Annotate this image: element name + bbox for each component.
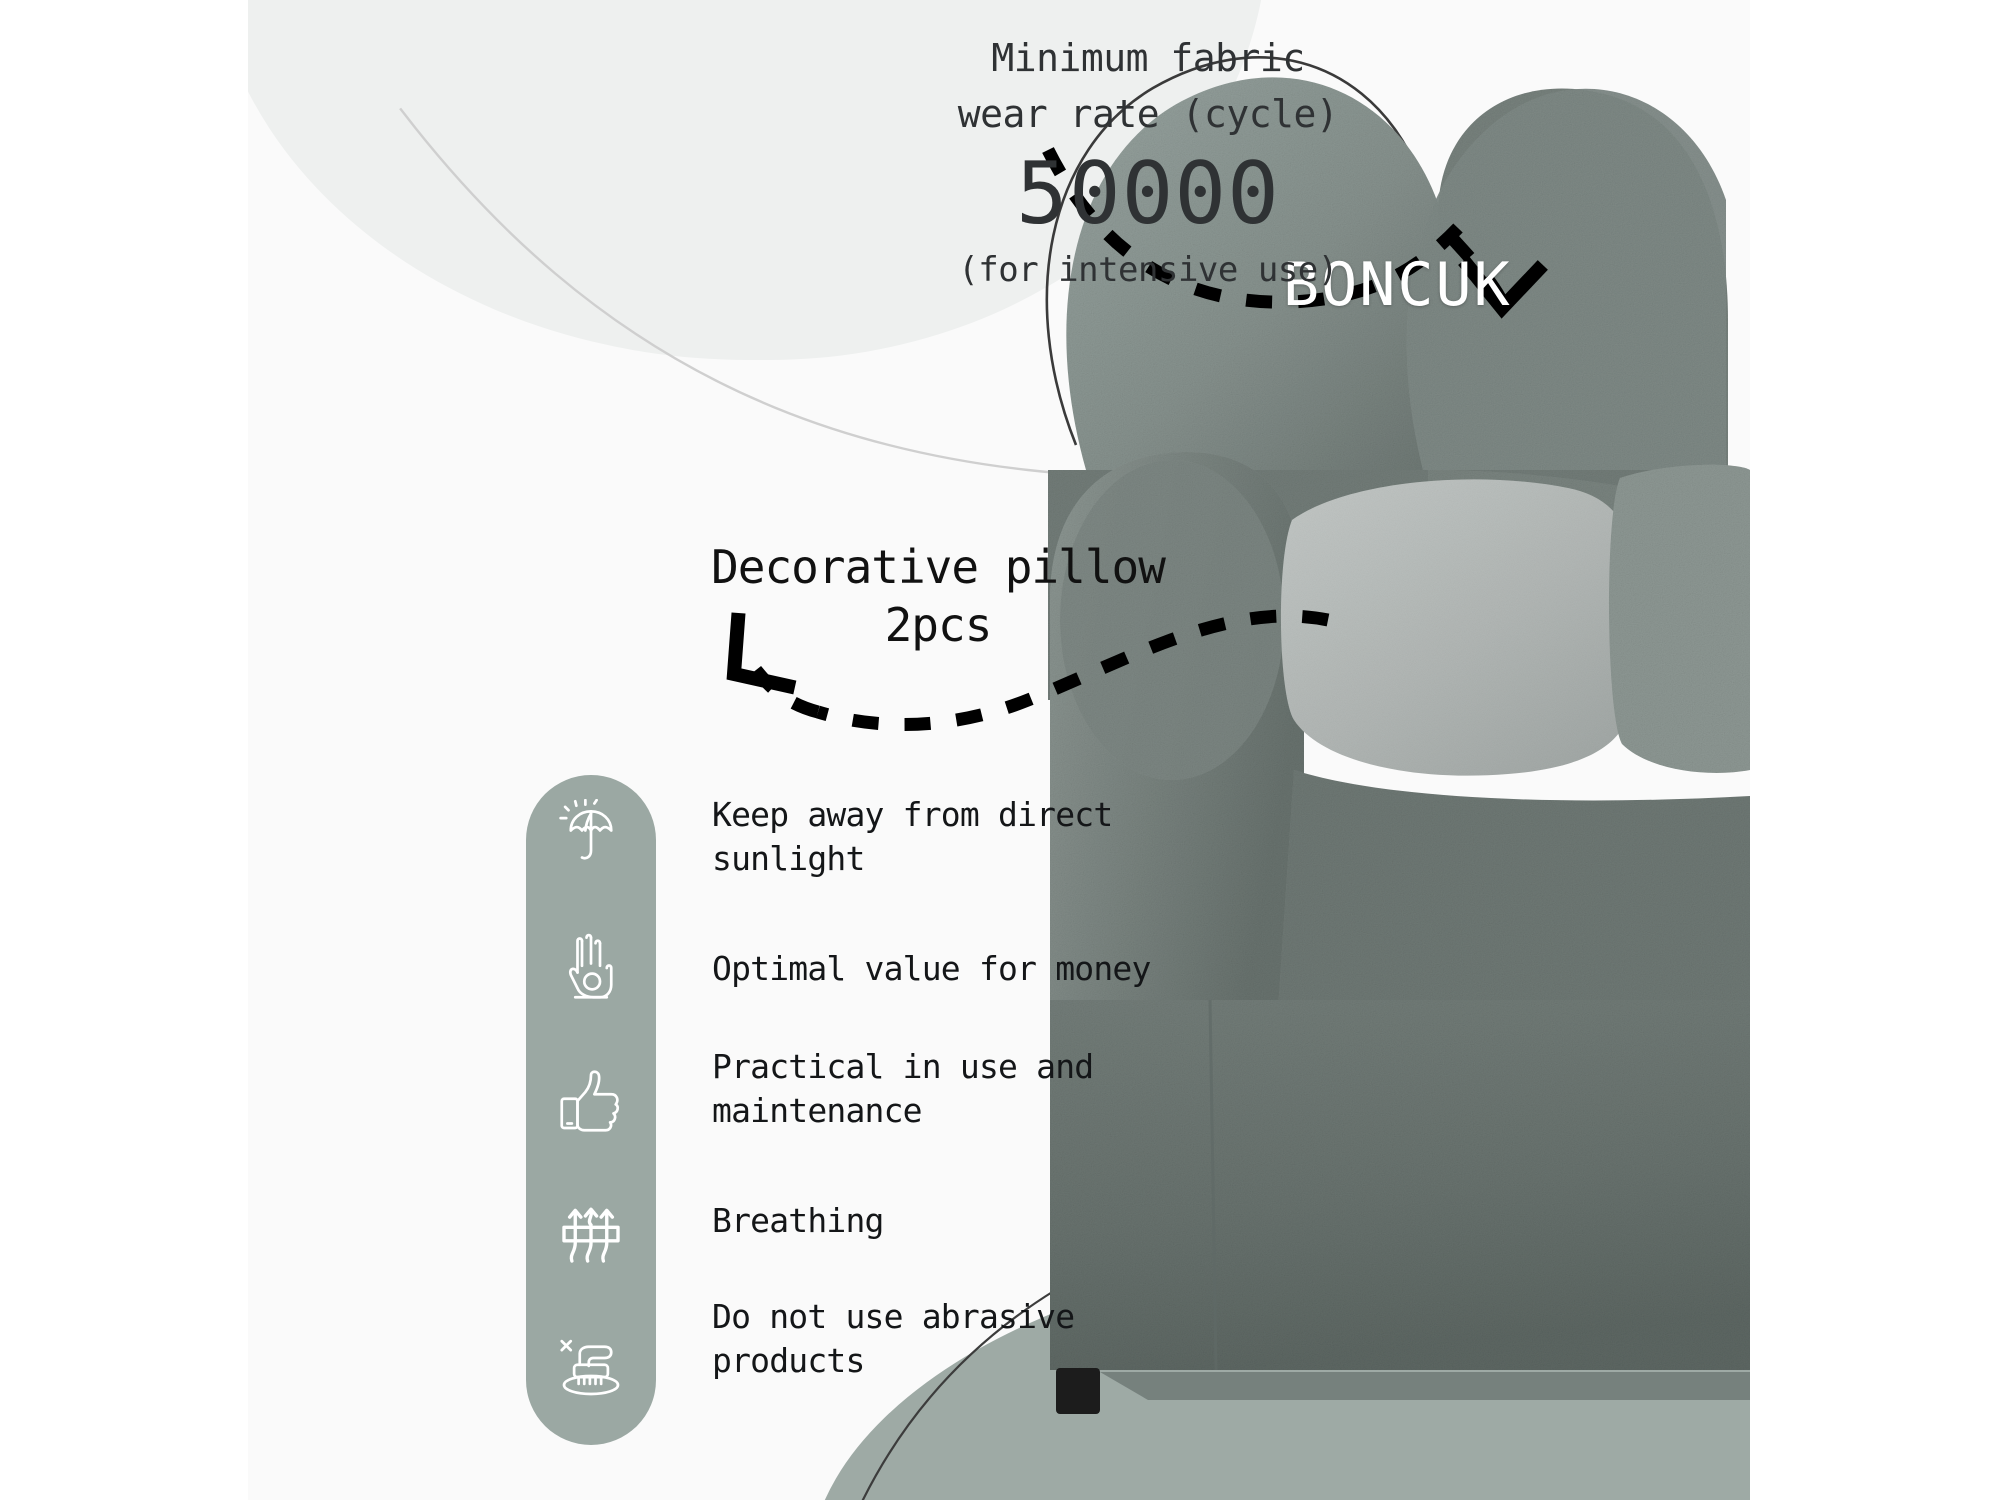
feature-label-3-line1: Breathing bbox=[712, 1201, 884, 1240]
breathable-icon bbox=[526, 1184, 656, 1284]
feature-label-3: Breathing bbox=[712, 1199, 884, 1243]
fabric-wear-value: 50000 bbox=[868, 146, 1428, 242]
thumbs-up-icon bbox=[526, 1051, 656, 1151]
feature-label-4-line1: Do not use abrasive bbox=[712, 1297, 1074, 1336]
feature-label-2-line2: maintenance bbox=[712, 1091, 922, 1130]
umbrella-sun-icon bbox=[526, 785, 656, 885]
pillow-callout-line2: 2pcs bbox=[658, 596, 1218, 654]
feature-label-0-line1: Keep away from direct bbox=[712, 795, 1112, 834]
feature-label-2-line1: Practical in use and bbox=[712, 1047, 1093, 1086]
feature-label-4: Do not use abrasive products bbox=[712, 1295, 1074, 1383]
decorative-pillow-callout: Decorative pillow 2pcs bbox=[658, 538, 1218, 654]
fabric-wear-line3: (for intensive use) bbox=[868, 248, 1428, 292]
no-scrub-brush-icon bbox=[526, 1317, 656, 1417]
feature-label-4-line2: products bbox=[712, 1341, 865, 1380]
feature-label-0-line2: sunlight bbox=[712, 839, 865, 878]
feature-label-2: Practical in use and maintenance bbox=[712, 1045, 1093, 1133]
fabric-wear-line1: Minimum fabric bbox=[868, 30, 1428, 86]
fabric-wear-line2: wear rate (cycle) bbox=[868, 86, 1428, 142]
pillow-callout-line1: Decorative pillow bbox=[658, 538, 1218, 596]
fabric-wear-callout: Minimum fabric wear rate (cycle) 50000 (… bbox=[868, 30, 1428, 292]
ok-hand-icon bbox=[526, 918, 656, 1018]
feature-label-1: Optimal value for money bbox=[712, 947, 1151, 991]
infographic-canvas: BONCUK Minimum fabric wear rate (cycle) … bbox=[248, 0, 1750, 1500]
feature-label-1-line1: Optimal value for money bbox=[712, 949, 1151, 988]
feature-label-0: Keep away from direct sunlight bbox=[712, 793, 1112, 881]
infographic-stage: BONCUK Minimum fabric wear rate (cycle) … bbox=[0, 0, 2000, 1500]
